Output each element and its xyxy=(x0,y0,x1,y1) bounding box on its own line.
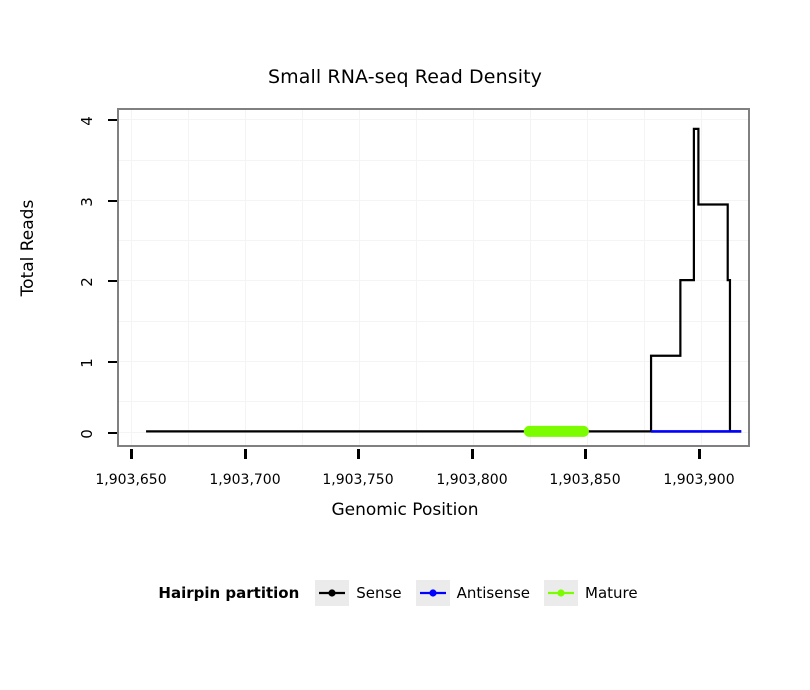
legend-item-mature[interactable]: Mature xyxy=(544,580,638,606)
legend-title: Hairpin partition xyxy=(158,584,299,602)
x-tick-mark-1 xyxy=(244,449,247,459)
legend: Hairpin partition Sense Antisense xyxy=(0,580,810,606)
legend-label-mature: Mature xyxy=(585,584,638,602)
y-tick-mark-0 xyxy=(108,432,117,434)
y-tick-label-3: 3 xyxy=(78,189,96,215)
y-tick-mark-4 xyxy=(108,119,117,121)
x-tick-mark-0 xyxy=(130,449,133,459)
x-tick-label-0: 1,903,650 xyxy=(71,472,191,488)
y-axis-label: Total Reads xyxy=(18,168,38,328)
y-tick-mark-3 xyxy=(108,200,117,202)
chart-root: Small RNA-seq Read Density Total Reads 4… xyxy=(0,0,810,690)
legend-key-line-icon xyxy=(315,580,349,606)
y-tick-label-2: 2 xyxy=(78,269,96,295)
x-tick-mark-3 xyxy=(471,449,474,459)
legend-key-line-icon xyxy=(416,580,450,606)
x-tick-label-5: 1,903,900 xyxy=(639,472,759,488)
legend-label-antisense: Antisense xyxy=(457,584,530,602)
x-tick-mark-5 xyxy=(698,449,701,459)
y-tick-label-0: 0 xyxy=(78,421,96,447)
legend-label-sense: Sense xyxy=(356,584,401,602)
legend-item-antisense[interactable]: Antisense xyxy=(416,580,530,606)
x-tick-label-4: 1,903,850 xyxy=(525,472,645,488)
legend-key-line-icon xyxy=(544,580,578,606)
y-tick-label-1: 1 xyxy=(78,350,96,376)
y-tick-mark-1 xyxy=(108,361,117,363)
x-axis-label: Genomic Position xyxy=(0,500,810,520)
y-tick-label-4: 4 xyxy=(78,108,96,134)
x-tick-mark-4 xyxy=(584,449,587,459)
page-title: Small RNA-seq Read Density xyxy=(0,66,810,88)
x-tick-mark-2 xyxy=(357,449,360,459)
x-tick-label-3: 1,903,800 xyxy=(412,472,532,488)
data-series-layer xyxy=(119,110,748,445)
series-line-sense xyxy=(146,129,741,431)
plot-panel xyxy=(117,108,750,447)
x-tick-label-2: 1,903,750 xyxy=(298,472,418,488)
legend-item-sense[interactable]: Sense xyxy=(315,580,401,606)
y-tick-mark-2 xyxy=(108,280,117,282)
x-tick-label-1: 1,903,700 xyxy=(185,472,305,488)
